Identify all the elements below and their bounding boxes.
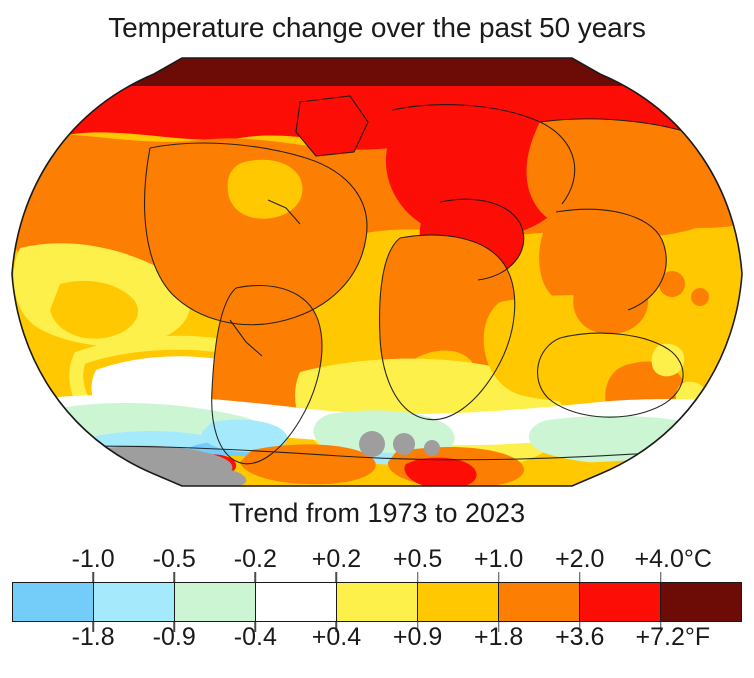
legend-label-f-6: +3.6 (555, 624, 604, 650)
map-data-layer (0, 52, 754, 492)
legend-label-c-1: -0.5 (153, 546, 196, 572)
legend-label-f-7: +7.2°F (636, 624, 711, 650)
legend-label-c-6: +2.0 (555, 546, 604, 572)
colorbar-tick (498, 572, 500, 582)
colorbar-band-5[interactable] (417, 583, 498, 621)
colorbar-band-7[interactable] (579, 583, 660, 621)
world-map-panel (0, 52, 754, 492)
legend-label-c-7: +4.0°C (635, 546, 712, 572)
climate-map-figure: Temperature change over the past 50 year… (0, 0, 754, 678)
legend-label-c-5: +1.0 (474, 546, 523, 572)
colorbar-tick (417, 572, 419, 582)
legend-labels-fahrenheit: -1.8-0.9-0.4+0.4+0.9+1.8+3.6+7.2°F (12, 624, 742, 650)
legend-label-c-2: -0.2 (234, 546, 277, 572)
colorbar-tick (173, 572, 175, 582)
world-map-svg (0, 52, 754, 492)
colorbar-band-2[interactable] (174, 583, 255, 621)
legend-label-f-1: -0.9 (153, 624, 196, 650)
chart-subtitle: Trend from 1973 to 2023 (0, 498, 754, 529)
colorbar-band-4[interactable] (336, 583, 417, 621)
legend-label-f-4: +0.9 (393, 624, 442, 650)
chart-title: Temperature change over the past 50 year… (0, 12, 754, 44)
colorbar[interactable] (12, 582, 742, 622)
colorbar-legend: -1.0-0.5-0.2+0.2+0.5+1.0+2.0+4.0°C -1.8-… (0, 540, 754, 678)
legend-label-f-2: -0.4 (234, 624, 277, 650)
colorbar-tick (579, 572, 581, 582)
legend-labels-celsius: -1.0-0.5-0.2+0.2+0.5+1.0+2.0+4.0°C (12, 546, 742, 572)
legend-label-f-0: -1.8 (72, 624, 115, 650)
colorbar-band-6[interactable] (498, 583, 579, 621)
legend-label-c-3: +0.2 (312, 546, 361, 572)
legend-label-f-5: +1.8 (474, 624, 523, 650)
legend-label-c-4: +0.5 (393, 546, 442, 572)
colorbar-tick (336, 572, 338, 582)
colorbar-tick (255, 572, 257, 582)
colorbar-band-0[interactable] (13, 583, 93, 621)
colorbar-tick (92, 572, 94, 582)
legend-label-f-3: +0.4 (312, 624, 361, 650)
legend-ticks-top (12, 572, 742, 582)
colorbar-band-8[interactable] (660, 583, 741, 621)
colorbar-band-1[interactable] (93, 583, 174, 621)
colorbar-tick (660, 572, 662, 582)
legend-label-c-0: -1.0 (72, 546, 115, 572)
colorbar-band-3[interactable] (255, 583, 336, 621)
